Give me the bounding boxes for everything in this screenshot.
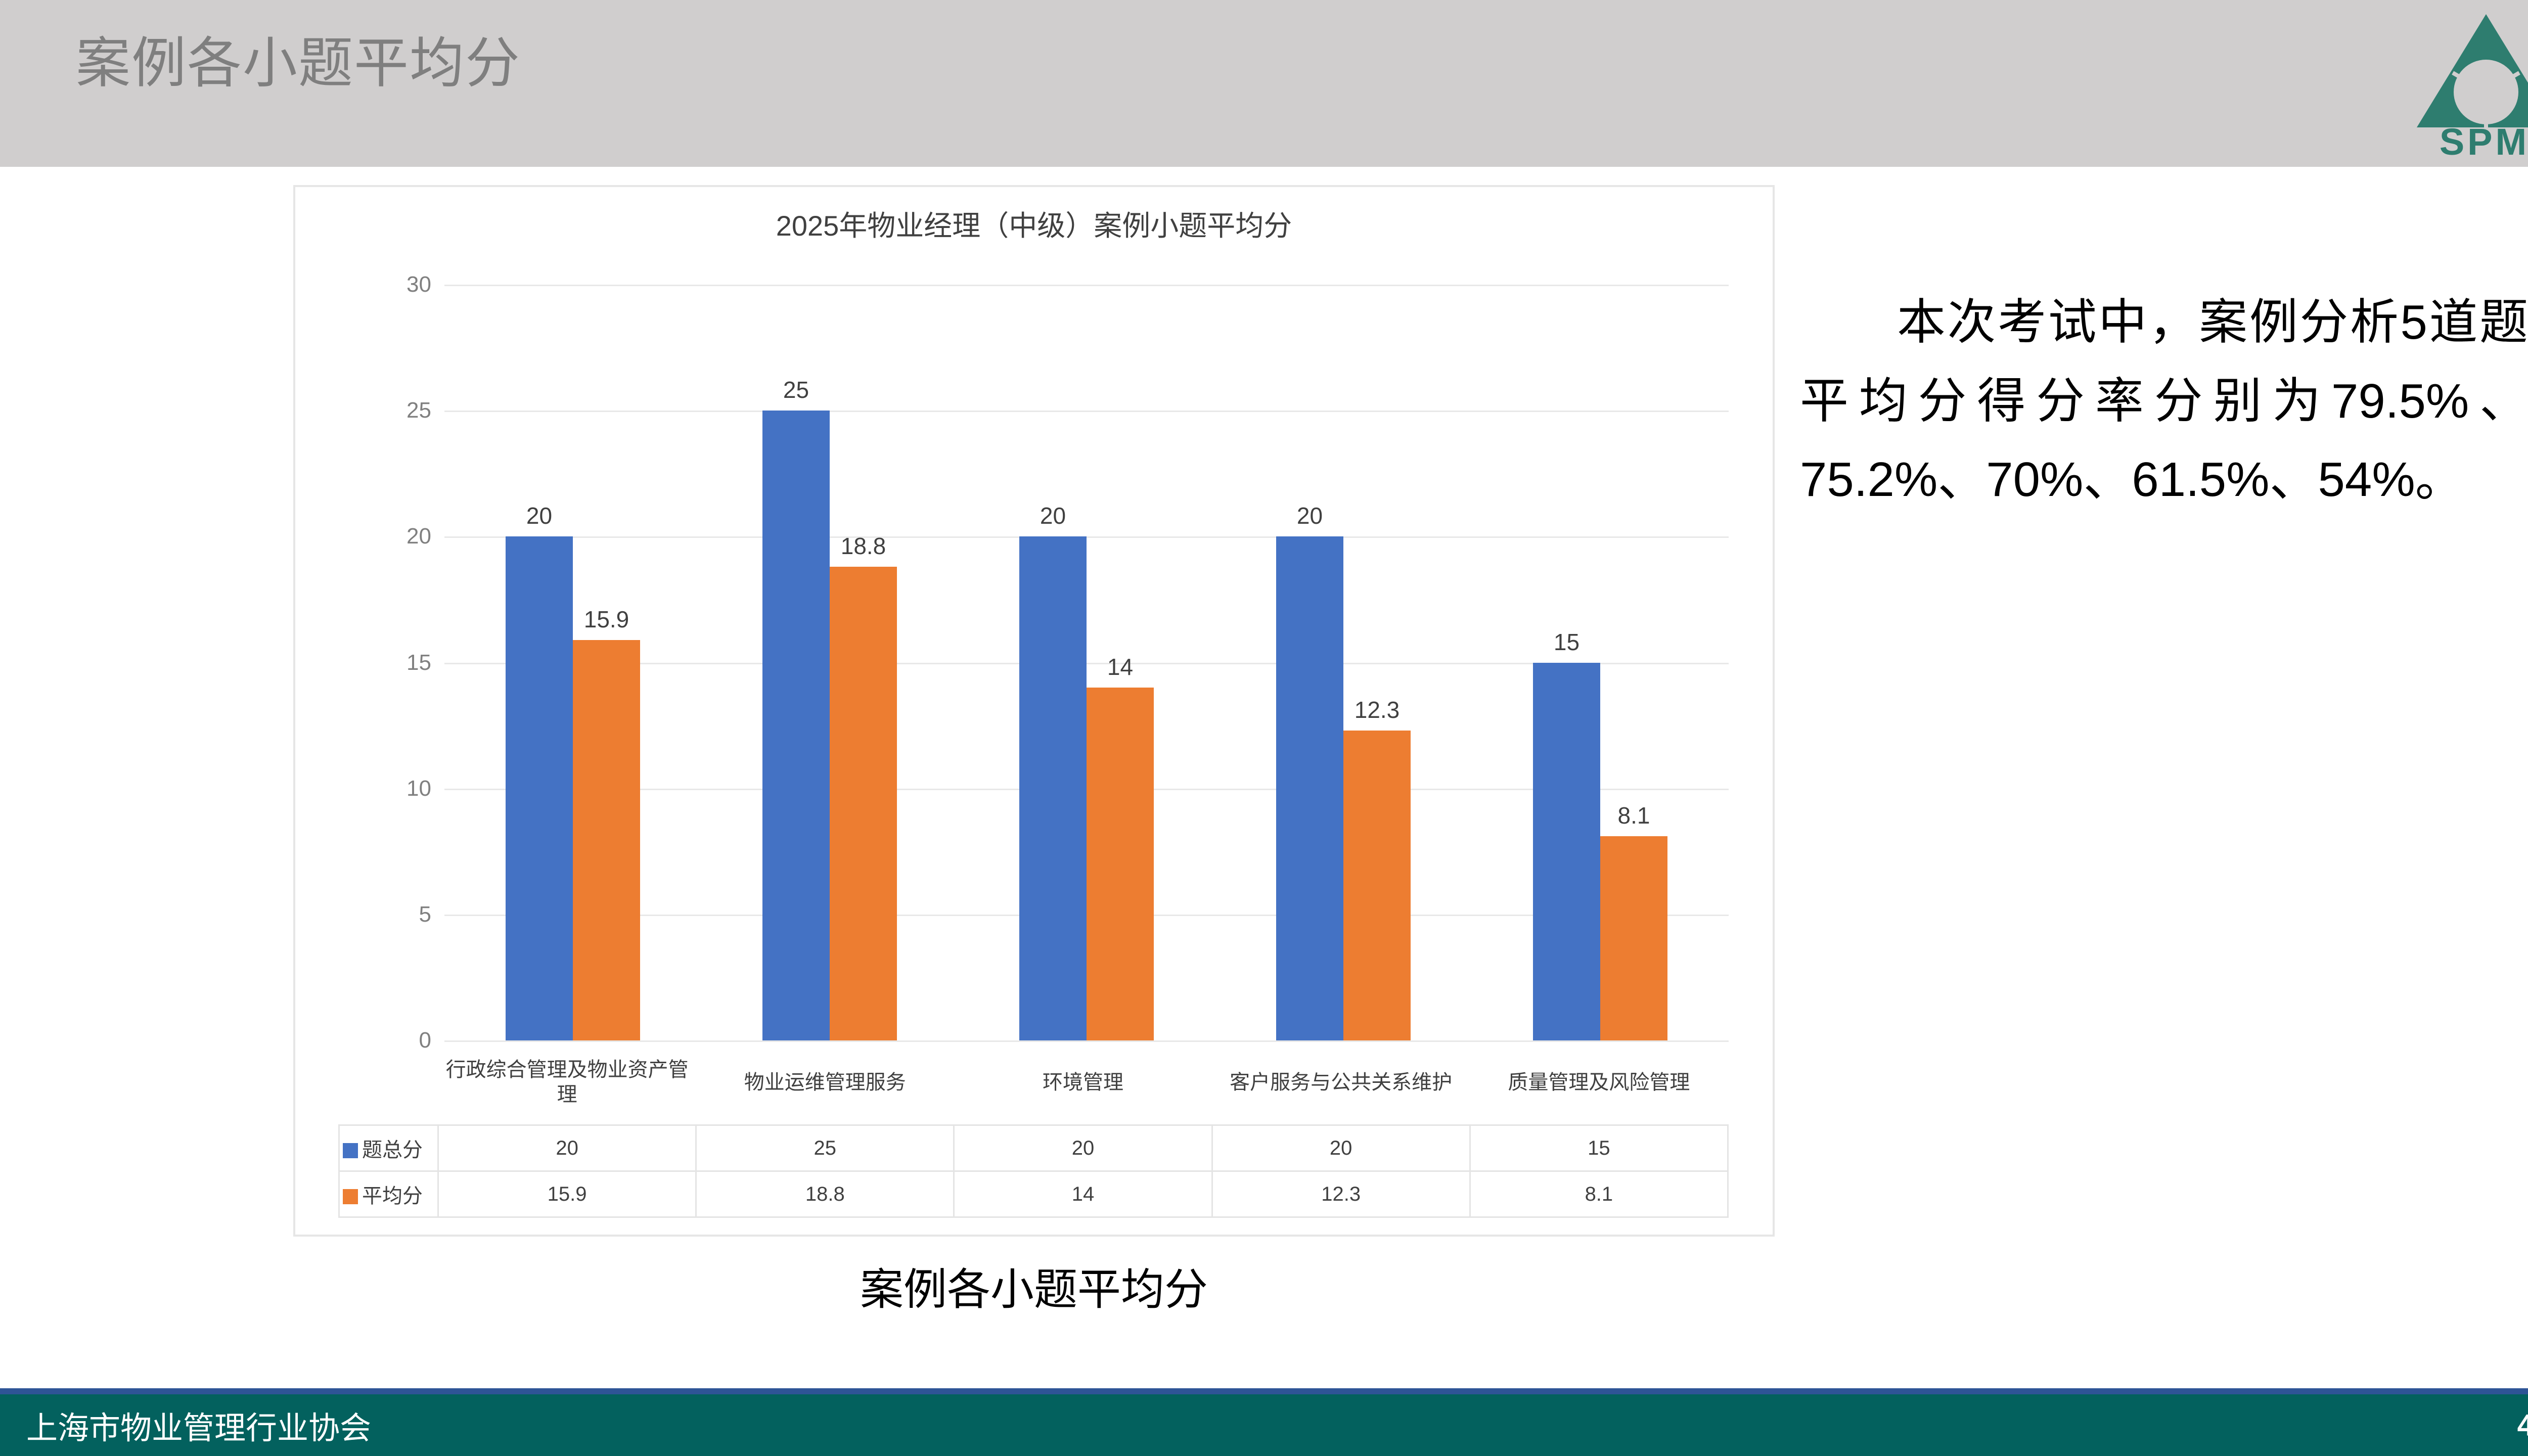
bar-group: 2012.3 (1215, 285, 1472, 1040)
legend-label: 平均分 (362, 1185, 423, 1207)
legend-swatch (343, 1189, 358, 1204)
bar-slot: 14 (1087, 285, 1154, 1040)
table-category-header: 环境管理 (954, 1040, 1212, 1125)
table-value-cell: 20 (954, 1125, 1212, 1171)
bar-total[interactable] (1276, 536, 1343, 1040)
bar-slot: 12.3 (1343, 285, 1411, 1040)
table-row: 平均分15.918.81412.38.1 (339, 1171, 1728, 1217)
table-series-legend: 题总分 (339, 1125, 438, 1171)
footer-accent-bar (0, 1388, 2528, 1394)
page-number: 4 (2517, 1408, 2528, 1443)
bar-slot: 15 (1533, 285, 1600, 1040)
bar-slot: 20 (1276, 285, 1343, 1040)
table-header-row: 行政综合管理及物业资产管理物业运维管理服务环境管理客户服务与公共关系维护质量管理… (339, 1040, 1728, 1125)
bar-group: 2518.8 (701, 285, 958, 1040)
bar-group: 2015.9 (444, 285, 701, 1040)
chart-data-table: 行政综合管理及物业资产管理物业运维管理服务环境管理客户服务与公共关系维护质量管理… (338, 1040, 1729, 1218)
bar-slot: 18.8 (830, 285, 897, 1040)
table-value-cell: 15 (1470, 1125, 1728, 1171)
bar-average[interactable] (573, 640, 640, 1040)
table-category-header: 质量管理及风险管理 (1470, 1040, 1728, 1125)
bar-value-label: 25 (783, 376, 809, 403)
table-value-cell: 14 (954, 1171, 1212, 1217)
bar-average[interactable] (1087, 688, 1154, 1040)
legend-label: 题总分 (362, 1139, 423, 1161)
chart-title: 2025年物业经理（中级）案例小题平均分 (295, 203, 1773, 244)
bar-average[interactable] (1343, 731, 1411, 1040)
y-axis-tick-label: 25 (407, 398, 431, 423)
chart-caption: 案例各小题平均分 (293, 1254, 1775, 1317)
bar-slot: 20 (506, 285, 573, 1040)
table-value-cell: 15.9 (438, 1171, 696, 1217)
footer-bar: 上海市物业管理行业协会 4 (0, 1394, 2528, 1456)
bar-average[interactable] (1600, 836, 1667, 1040)
bar-value-label: 20 (1040, 502, 1066, 529)
bar-value-label: 12.3 (1355, 696, 1400, 723)
bar-value-label: 20 (526, 502, 552, 529)
bar-value-label: 14 (1107, 653, 1133, 680)
bar-slot: 25 (762, 285, 830, 1040)
bar-slot: 20 (1019, 285, 1087, 1040)
table-value-cell: 8.1 (1470, 1171, 1728, 1217)
table-value-cell: 18.8 (696, 1171, 954, 1217)
table-category-header: 客户服务与公共关系维护 (1212, 1040, 1470, 1125)
bar-slot: 8.1 (1600, 285, 1667, 1040)
table-value-cell: 20 (438, 1125, 696, 1171)
bar-total[interactable] (1019, 536, 1087, 1040)
footer-organization: 上海市物业管理行业协会 (26, 1402, 371, 1448)
y-axis-tick-label: 10 (407, 776, 431, 801)
commentary-text: 本次考试中，案例分析5道题平均分得分率分别为79.5%、75.2%、70%、61… (1800, 283, 2528, 519)
bar-slot: 15.9 (573, 285, 640, 1040)
table-value-cell: 12.3 (1212, 1171, 1470, 1217)
chart-plot-area: 051015202530 2015.92518.820142012.3158.1 (444, 285, 1729, 1040)
y-axis-tick-label: 15 (407, 650, 431, 675)
bar-total[interactable] (506, 536, 573, 1040)
page-title: 案例各小题平均分 (76, 30, 521, 96)
bar-group: 2014 (958, 285, 1215, 1040)
y-axis-tick-label: 30 (407, 272, 431, 297)
table-row: 题总分2025202015 (339, 1125, 1728, 1171)
bar-value-label: 15 (1554, 628, 1579, 656)
bar-value-label: 15.9 (584, 606, 629, 633)
chart-bar-groups: 2015.92518.820142012.3158.1 (444, 285, 1729, 1040)
bar-value-label: 8.1 (1618, 802, 1650, 829)
y-axis-tick-label: 20 (407, 524, 431, 549)
chart-container: 2025年物业经理（中级）案例小题平均分 051015202530 2015.9… (293, 185, 1775, 1237)
table-value-cell: 25 (696, 1125, 954, 1171)
table-category-header: 行政综合管理及物业资产管理 (438, 1040, 696, 1125)
header-band: 案例各小题平均分 (0, 0, 2528, 167)
legend-swatch (343, 1143, 358, 1158)
spm-triangle-icon: SPM ® (2413, 5, 2528, 157)
spm-logo: SPM ® (2413, 5, 2528, 157)
bar-value-label: 20 (1297, 502, 1323, 529)
table-category-header: 物业运维管理服务 (696, 1040, 954, 1125)
bar-average[interactable] (830, 567, 897, 1040)
y-axis-tick-label: 5 (419, 902, 431, 927)
table-value-cell: 20 (1212, 1125, 1470, 1171)
table-corner-cell (339, 1040, 438, 1125)
svg-text:SPM: SPM (2440, 121, 2528, 157)
table-series-legend: 平均分 (339, 1171, 438, 1217)
bar-group: 158.1 (1472, 285, 1729, 1040)
bar-value-label: 18.8 (841, 532, 886, 560)
bar-total[interactable] (1533, 663, 1600, 1041)
bar-total[interactable] (762, 411, 830, 1040)
